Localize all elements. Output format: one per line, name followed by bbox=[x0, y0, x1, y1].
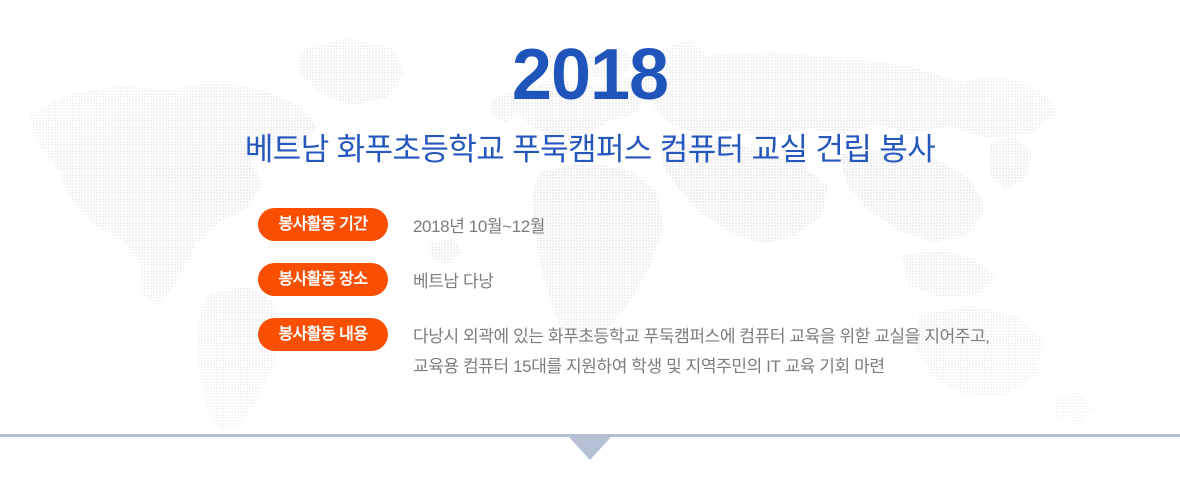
banner-title: 베트남 화푸초등학교 푸둑캠퍼스 컴퓨터 교실 건립 봉사 bbox=[0, 129, 1180, 171]
banner-content: 2018 베트남 화푸초등학교 푸둑캠퍼스 컴퓨터 교실 건립 봉사 봉사활동 … bbox=[0, 0, 1180, 495]
value-activity-period: 2018년 10월~12월 bbox=[413, 208, 1058, 242]
badge-activity-period: 봉사활동 기간 bbox=[258, 208, 388, 241]
volunteer-activity-banner: 2018 베트남 화푸초등학교 푸둑캠퍼스 컴퓨터 교실 건립 봉사 봉사활동 … bbox=[0, 0, 1180, 495]
badge-activity-description: 봉사활동 내용 bbox=[258, 318, 388, 351]
info-row-location: 봉사활동 장소 베트남 다낭 bbox=[258, 263, 1058, 307]
value-activity-location: 베트남 다낭 bbox=[413, 263, 1058, 297]
triangle-down-icon bbox=[569, 437, 611, 460]
info-row-period: 봉사활동 기간 2018년 10월~12월 bbox=[258, 208, 1058, 252]
badge-activity-location: 봉사활동 장소 bbox=[258, 263, 388, 296]
value-activity-description: 다낭시 외곽에 있는 화푸초등학교 푸둑캠퍼스에 컴퓨터 교육을 위핟 교실을 … bbox=[413, 318, 1058, 382]
info-list: 봉사활동 기간 2018년 10월~12월 봉사활동 장소 베트남 다낭 봉사활… bbox=[258, 208, 1058, 382]
year-heading: 2018 bbox=[0, 36, 1180, 114]
info-row-description: 봉사활동 내용 다낭시 외곽에 있는 화푸초등학교 푸둑캠퍼스에 컴퓨터 교육을… bbox=[258, 318, 1058, 382]
